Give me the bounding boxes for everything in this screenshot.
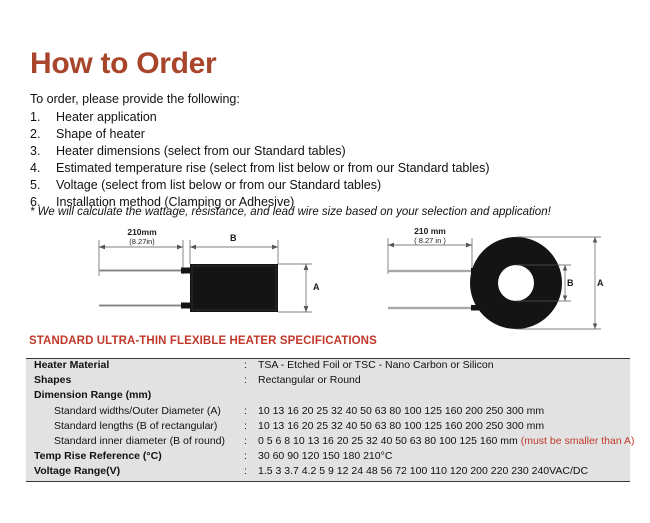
spec-value-with-note: 0 5 6 8 10 13 16 20 25 32 40 50 63 80 10… <box>258 435 635 447</box>
spec-value: 1.5 3 3.7 4.2 5 9 12 24 48 56 72 100 110… <box>258 465 630 477</box>
list-item: 4. Estimated temperature rise (select fr… <box>30 160 630 177</box>
spec-value: 10 13 16 20 25 32 40 50 63 80 100 125 16… <box>258 420 630 432</box>
spec-colon: : <box>244 374 258 386</box>
spec-label: Standard inner diameter (B of round) <box>26 435 244 447</box>
spec-value: TSA - Etched Foil or TSC - Nano Carbon o… <box>258 359 630 371</box>
round-lead-length-mm: 210 mm <box>400 227 460 236</box>
spec-colon: : <box>244 359 258 371</box>
diagram-area: 210mm (8.27in) B A <box>0 228 650 333</box>
spec-value: Rectangular or Round <box>258 374 630 386</box>
list-item-label: Shape of heater <box>56 126 630 143</box>
spec-value: 10 13 16 20 25 32 40 50 63 80 100 125 16… <box>258 405 630 417</box>
spec-section-header: STANDARD ULTRA-THIN FLEXIBLE HEATER SPEC… <box>29 335 377 347</box>
spec-value: 30 60 90 120 150 180 210°C <box>258 450 630 462</box>
table-row: Heater Material : TSA - Etched Foil or T… <box>26 359 630 374</box>
spec-label: Voltage Range(V) <box>26 465 244 477</box>
rectangular-heater-drawing <box>66 228 336 333</box>
order-steps-list: 1. Heater application 2. Shape of heater… <box>30 109 630 211</box>
spec-label: Temp Rise Reference (°C) <box>26 450 244 462</box>
table-row: Temp Rise Reference (°C) : 30 60 90 120 … <box>26 450 630 465</box>
list-item-label: Heater dimensions (select from our Stand… <box>56 143 630 160</box>
page-title: How to Order <box>30 49 216 79</box>
round-lead-length-label: 210 mm ( 8.27 in ) <box>400 227 460 245</box>
list-item-number: 2. <box>30 126 56 143</box>
rectangular-heater-diagram: 210mm (8.27in) B A <box>66 228 336 333</box>
round-heater-diagram: 210 mm ( 8.27 in ) B A <box>375 228 625 333</box>
intro-text: To order, please provide the following: <box>30 92 240 106</box>
spec-label: Standard widths/Outer Diameter (A) <box>26 405 244 417</box>
rect-lead-length-mm: 210mm <box>112 228 172 237</box>
table-row: Standard lengths (B of rectangular) : 10… <box>26 420 630 435</box>
list-item: 2. Shape of heater <box>30 126 630 143</box>
rect-lead-length-label: 210mm (8.27in) <box>112 228 172 246</box>
rect-height-letter: A <box>313 282 320 292</box>
spec-colon: : <box>244 450 258 462</box>
spec-table: Heater Material : TSA - Etched Foil or T… <box>26 358 630 482</box>
spec-label: Standard lengths (B of rectangular) <box>26 420 244 432</box>
list-item-label: Estimated temperature rise (select from … <box>56 160 630 177</box>
list-item-label: Heater application <box>56 109 630 126</box>
list-item-number: 1. <box>30 109 56 126</box>
spec-label: Dimension Range (mm) <box>26 389 244 401</box>
rect-width-letter: B <box>230 233 237 243</box>
table-row: Shapes : Rectangular or Round <box>26 374 630 389</box>
round-lead-length-in: ( 8.27 in ) <box>400 236 460 245</box>
spec-label: Shapes <box>26 374 244 386</box>
list-item-number: 4. <box>30 160 56 177</box>
table-row: Standard inner diameter (B of round) : 0… <box>26 435 630 450</box>
round-outer-diameter-letter: A <box>597 278 604 288</box>
list-item: 3. Heater dimensions (select from our St… <box>30 143 630 160</box>
spec-value-note: (must be smaller than A) <box>521 435 635 447</box>
table-row: Standard widths/Outer Diameter (A) : 10 … <box>26 405 630 420</box>
list-item: 5. Voltage (select from list below or fr… <box>30 177 630 194</box>
spec-colon: : <box>244 465 258 477</box>
spec-colon: : <box>244 420 258 432</box>
round-inner-diameter-letter: B <box>567 278 574 288</box>
spec-value: 0 5 6 8 10 13 16 20 25 32 40 50 63 80 10… <box>258 435 521 447</box>
list-item-number: 3. <box>30 143 56 160</box>
list-item-label: Voltage (select from list below or from … <box>56 177 630 194</box>
spec-colon: : <box>244 435 258 447</box>
table-row: Voltage Range(V) : 1.5 3 3.7 4.2 5 9 12 … <box>26 465 630 480</box>
footnote-text: * We will calculate the wattage, resista… <box>30 206 551 218</box>
table-row: Dimension Range (mm) <box>26 389 630 404</box>
rect-lead-length-in: (8.27in) <box>112 237 172 246</box>
list-item: 1. Heater application <box>30 109 630 126</box>
spec-label: Heater Material <box>26 359 244 371</box>
list-item-number: 5. <box>30 177 56 194</box>
spec-colon: : <box>244 405 258 417</box>
